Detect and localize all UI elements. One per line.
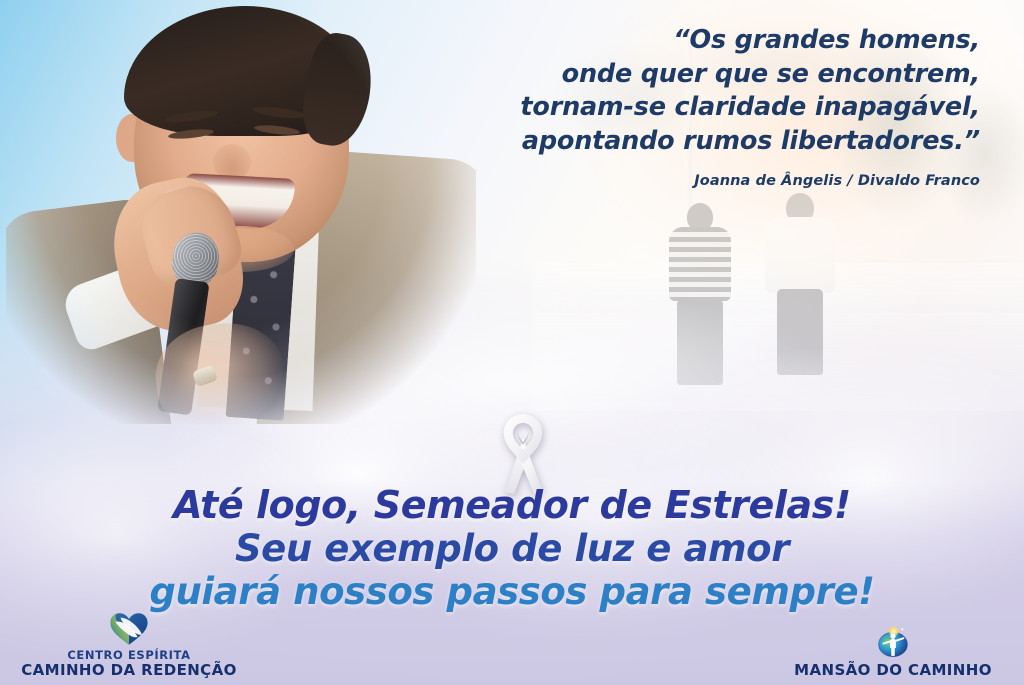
memorial-poster: “Os grandes homens, onde quer que se enc… [0,0,1024,685]
quote-line-1: “Os grandes homens, [420,24,980,58]
headline-line-2: Seu exemplo de luz e amor [0,530,1024,569]
quote-line-4: apontando rumos libertadores.” [420,125,980,159]
footer-logos: CENTRO ESPÍRITA CAMINHO DA REDENÇÃO [0,603,1024,685]
logo-mansao-do-caminho: MANSÃO DO CAMINHO [768,621,1018,679]
portrait-photo [6,0,476,424]
mourning-ribbon-icon [487,408,559,494]
heart-hands-icon [4,609,254,647]
quote-attribution: Joanna de Ângelis / Divaldo Franco [420,173,980,189]
headline-block: Até logo, Semeador de Estrelas! Seu exem… [0,486,1024,612]
headline-line-1: Até logo, Semeador de Estrelas! [0,486,1024,526]
quote-line-3: tornam-se claridade inapagável, [420,91,980,125]
quote-line-2: onde quer que se encontrem, [420,58,980,92]
logo-line-1: CENTRO ESPÍRITA [4,649,254,662]
logo-line-2: CAMINHO DA REDENÇÃO [4,662,254,679]
globe-figure-icon [768,621,1018,659]
logo-centro-espirita: CENTRO ESPÍRITA CAMINHO DA REDENÇÃO [4,609,254,679]
quote-block: “Os grandes homens, onde quer que se enc… [420,24,980,189]
logo-line-1: MANSÃO DO CAMINHO [768,661,1018,679]
